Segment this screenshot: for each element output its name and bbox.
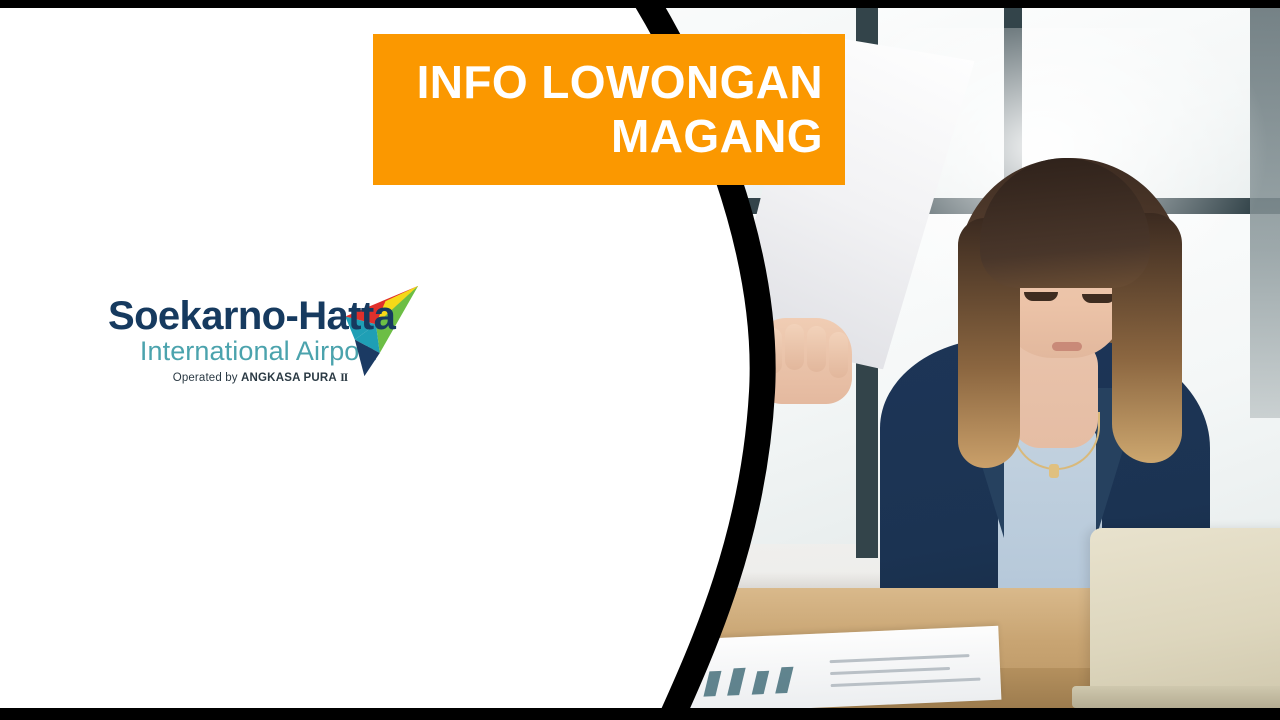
chart-bar <box>679 667 698 698</box>
chart-text-line <box>830 654 970 663</box>
eye <box>1024 292 1058 301</box>
chart-text-line <box>831 678 981 688</box>
eye <box>1082 294 1116 303</box>
chart-bar <box>727 668 746 696</box>
operated-by-text: Operated by <box>173 372 241 384</box>
necklace-pendant <box>1049 464 1059 478</box>
lips <box>1052 342 1082 351</box>
laptop-base <box>1072 686 1280 708</box>
chart-bar <box>655 670 674 699</box>
chart-bar <box>752 671 770 695</box>
logo-wordmark: Soekarno-Hatta <box>108 296 418 336</box>
finger <box>829 332 848 378</box>
headline-line-2: MAGANG <box>611 110 823 164</box>
headline-line-1: INFO LOWONGAN <box>417 56 823 110</box>
chart-text-line <box>830 667 950 675</box>
finger <box>763 328 782 374</box>
chart-bar <box>775 667 793 694</box>
chart-bar <box>630 667 650 700</box>
operator-brand-text: ANGKASA PURA <box>241 372 337 384</box>
soekarno-hatta-logo: Soekarno-Hatta International Airport Ope… <box>108 296 418 384</box>
finger <box>807 326 826 372</box>
laptop-screen <box>1090 528 1280 708</box>
poster-canvas: Soekarno-Hatta International Airport Ope… <box>0 0 1280 720</box>
letterbox-bottom <box>0 708 1280 720</box>
chart-bar <box>703 671 721 697</box>
headline-banner: INFO LOWONGAN MAGANG <box>373 34 845 185</box>
letterbox-top <box>0 0 1280 8</box>
finger <box>785 324 804 370</box>
